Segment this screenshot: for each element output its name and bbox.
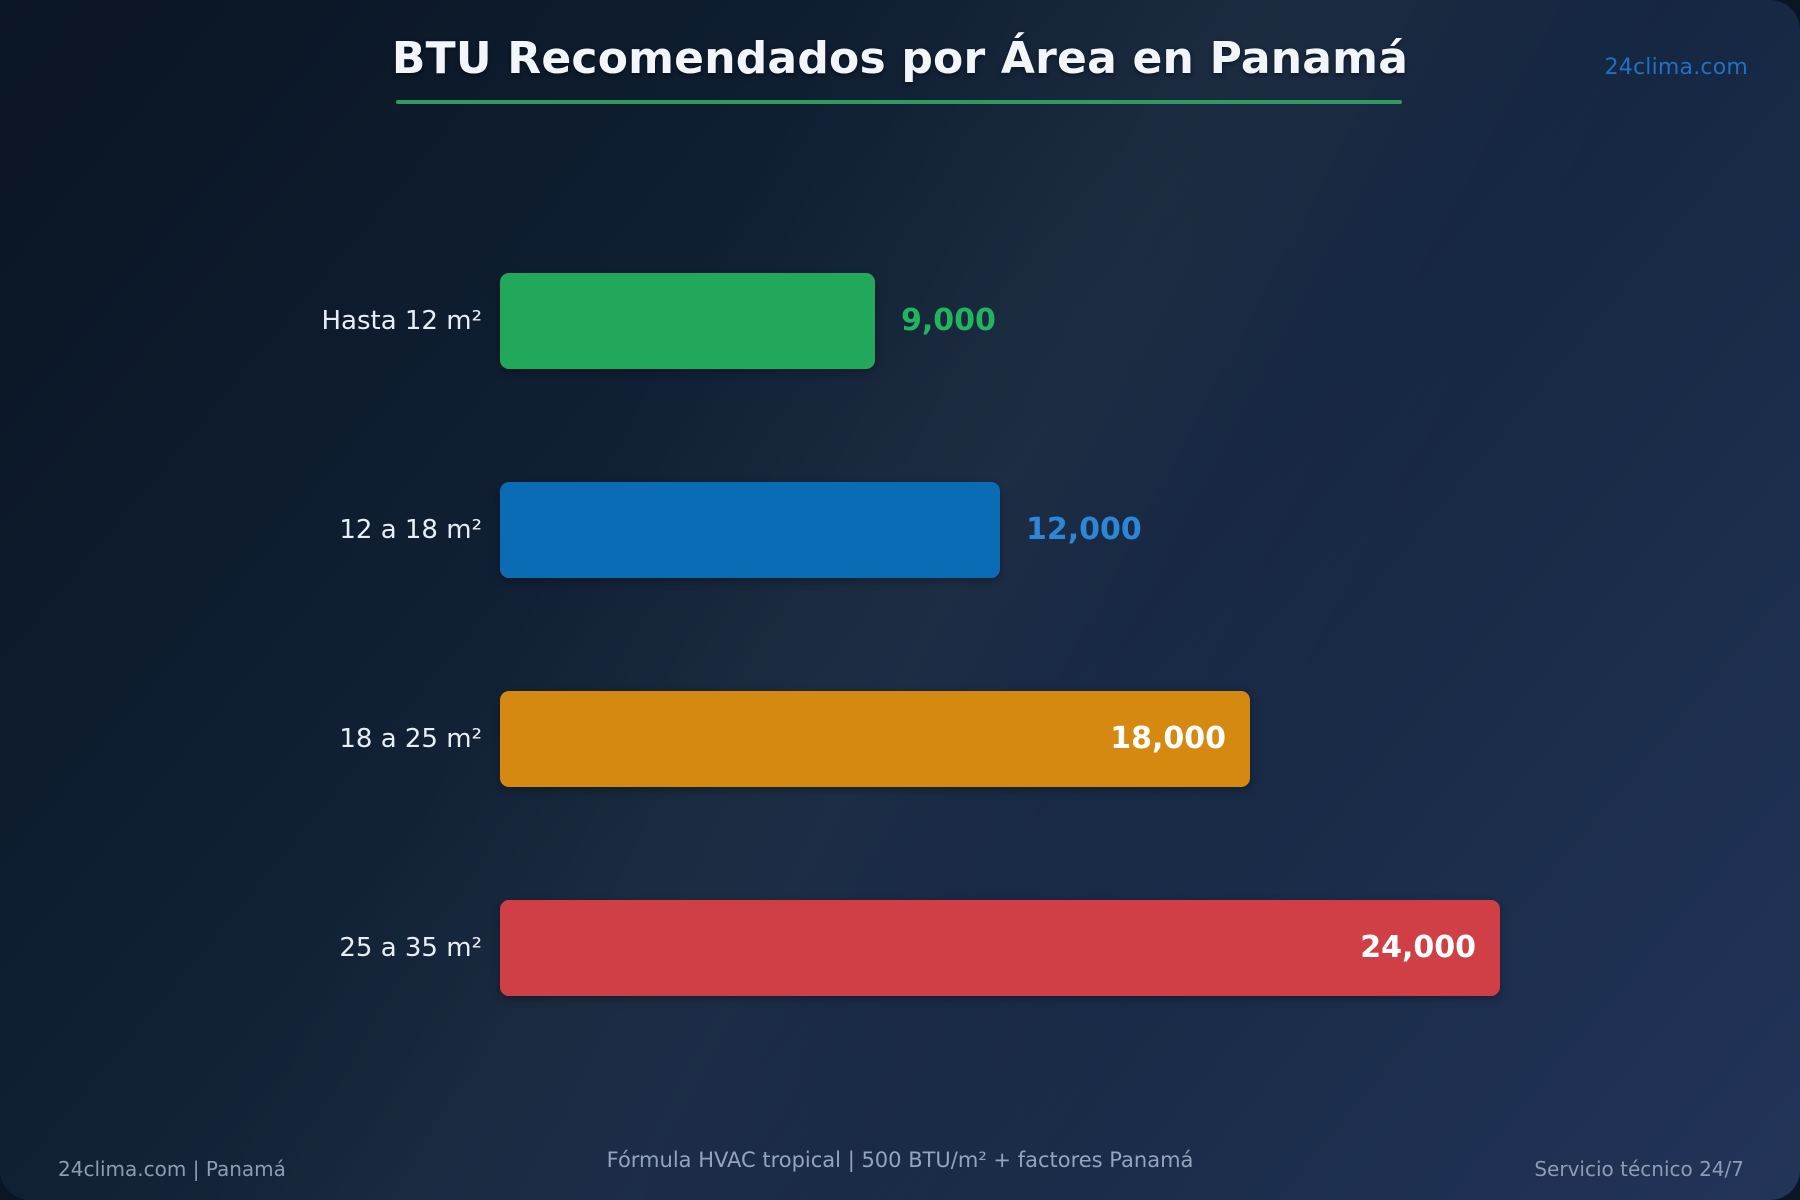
bar-value-label: 24,000 xyxy=(1360,900,1476,996)
chart-canvas: BTU Recomendados por Área en Panamá 24cl… xyxy=(0,0,1800,1200)
bar-category-label: 12 a 18 m² xyxy=(339,482,482,578)
bar-4[interactable] xyxy=(500,900,1500,996)
footer-right-text: Servicio técnico 24/7 xyxy=(1534,1157,1744,1181)
bar-2[interactable] xyxy=(500,482,1000,578)
bar-row: 12 a 18 m²12,000 xyxy=(0,482,1800,578)
bar-row: 25 a 35 m²24,000 xyxy=(0,900,1800,996)
footer-center-note: Fórmula HVAC tropical | 500 BTU/m² + fac… xyxy=(0,1148,1800,1172)
bar-value-label: 9,000 xyxy=(901,273,996,369)
bar-row: 18 a 25 m²18,000 xyxy=(0,691,1800,787)
bar-category-label: 25 a 35 m² xyxy=(339,900,482,996)
bar-value-label: 12,000 xyxy=(1026,482,1142,578)
bar-value-label: 18,000 xyxy=(1110,691,1226,787)
bar-chart-plot-area: Hasta 12 m²9,00012 a 18 m²12,00018 a 25 … xyxy=(0,0,1800,1200)
bar-1[interactable] xyxy=(500,273,875,369)
bar-row: Hasta 12 m²9,000 xyxy=(0,273,1800,369)
bar-category-label: Hasta 12 m² xyxy=(321,273,482,369)
bar-category-label: 18 a 25 m² xyxy=(339,691,482,787)
